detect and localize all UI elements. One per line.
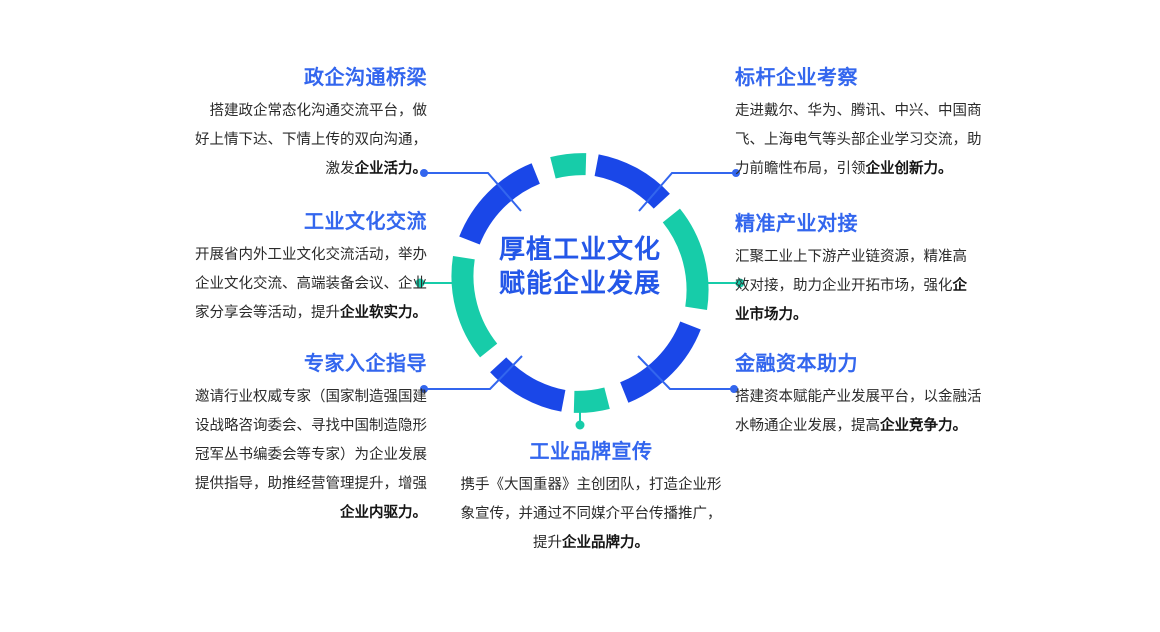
body-line: 效对接，助力企业开拓市场，强化 <box>735 278 953 294</box>
body-line: 走进戴尔、华为、腾讯、中兴、中国商 <box>735 103 982 119</box>
body-line: 提供指导，助推经营管理提升，增强 <box>195 476 427 492</box>
body-line: 象宣传，并通过不同媒介平台传播推广， <box>461 506 722 522</box>
body-emphasis: 业市场力。 <box>735 307 808 323</box>
block-industry-body: 汇聚工业上下游产业链资源，精准高 效对接，助力企业开拓市场，强化企 业市场力。 <box>735 243 1045 330</box>
block-culture: 工业文化交流 开展省内外工业文化交流活动，举办 企业文化交流、高端装备会议、企业… <box>105 210 427 328</box>
ring-segment-right-upper <box>671 215 697 308</box>
block-industry: 精准产业对接 汇聚工业上下游产业链资源，精准高 效对接，助力企业开拓市场，强化企… <box>735 212 1045 330</box>
block-benchmark: 标杆企业考察 走进戴尔、华为、腾讯、中兴、中国商 飞、上海电气等头部企业学习交流… <box>735 66 1045 184</box>
body-emphasis: 企业创新力。 <box>866 161 953 177</box>
ring-segment-top-right <box>597 165 662 201</box>
body-line: 设战略咨询委会、寻找中国制造隐形 <box>195 418 427 434</box>
body-line: 家分享会等活动，提升 <box>195 305 340 321</box>
ring-segment-left-upper <box>469 174 535 241</box>
block-finance: 金融资本助力 搭建资本赋能产业发展平台，以金融活 水畅通企业发展，提高企业竞争力… <box>735 352 1045 441</box>
block-benchmark-heading: 标杆企业考察 <box>735 66 1045 90</box>
body-line: 飞、上海电气等头部企业学习交流，助 <box>735 132 982 148</box>
body-line: 水畅通企业发展，提高 <box>735 418 880 434</box>
ring-segment-left-lower <box>462 258 488 351</box>
body-line: 邀请行业权威专家（国家制造强国建 <box>195 389 427 405</box>
block-gov-bridge-body: 搭建政企常态化沟通交流平台，做 好上情下达、下情上传的双向沟通， 激发企业活力。 <box>105 97 427 184</box>
body-line: 冠军丛书编委会等专家）为企业发展 <box>195 447 427 463</box>
body-line: 激发 <box>326 161 355 177</box>
infographic-canvas: 厚植工业文化 赋能企业发展 <box>0 0 1160 632</box>
ring-segment-bottom-right <box>574 398 607 402</box>
block-finance-heading: 金融资本助力 <box>735 352 1045 376</box>
body-line: 力前瞻性布局，引领 <box>735 161 866 177</box>
block-culture-body: 开展省内外工业文化交流活动，举办 企业文化交流、高端装备会议、企业 家分享会等活… <box>105 241 427 328</box>
body-line: 开展省内外工业文化交流活动，举办 <box>195 247 427 263</box>
body-emphasis: 企业竞争力。 <box>880 418 967 434</box>
block-industry-heading: 精准产业对接 <box>735 212 1045 236</box>
block-gov-bridge-heading: 政企沟通桥梁 <box>105 66 427 90</box>
body-line: 搭建资本赋能产业发展平台，以金融活 <box>735 389 982 405</box>
central-ring <box>450 153 710 413</box>
body-emphasis: 企业内驱力。 <box>340 505 427 521</box>
block-expert-heading: 专家入企指导 <box>105 352 427 376</box>
block-brand-body: 携手《大国重器》主创团队，打造企业形 象宣传，并通过不同媒介平台传播推广， 提升… <box>415 471 767 558</box>
body-emphasis: 企业活力。 <box>355 161 428 177</box>
block-brand: 工业品牌宣传 携手《大国重器》主创团队，打造企业形 象宣传，并通过不同媒介平台传… <box>415 440 767 558</box>
body-line: 携手《大国重器》主创团队，打造企业形 <box>461 477 722 493</box>
body-emphasis: 企 <box>953 278 968 294</box>
block-gov-bridge: 政企沟通桥梁 搭建政企常态化沟通交流平台，做 好上情下达、下情上传的双向沟通， … <box>105 66 427 184</box>
block-finance-body: 搭建资本赋能产业发展平台，以金融活 水畅通企业发展，提高企业竞争力。 <box>735 383 1045 441</box>
ring-segment-bottom-left <box>498 365 563 401</box>
block-brand-heading: 工业品牌宣传 <box>415 440 767 464</box>
block-expert-body: 邀请行业权威专家（国家制造强国建 设战略咨询委会、寻找中国制造隐形 冠军丛书编委… <box>105 383 427 528</box>
body-emphasis: 企业软实力。 <box>340 305 427 321</box>
body-line: 好上情下达、下情上传的双向沟通， <box>195 132 427 148</box>
body-line: 汇聚工业上下游产业链资源，精准高 <box>735 249 967 265</box>
ring-segment-top-left <box>553 164 586 168</box>
ring-segment-right-lower <box>624 325 690 392</box>
body-line: 提升 <box>533 535 562 551</box>
block-benchmark-body: 走进戴尔、华为、腾讯、中兴、中国商 飞、上海电气等头部企业学习交流，助 力前瞻性… <box>735 97 1045 184</box>
block-expert: 专家入企指导 邀请行业权威专家（国家制造强国建 设战略咨询委会、寻找中国制造隐形… <box>105 352 427 528</box>
block-culture-heading: 工业文化交流 <box>105 210 427 234</box>
body-line: 企业文化交流、高端装备会议、企业 <box>195 276 427 292</box>
body-emphasis: 企业品牌力。 <box>562 535 649 551</box>
body-line: 搭建政企常态化沟通交流平台，做 <box>210 103 428 119</box>
